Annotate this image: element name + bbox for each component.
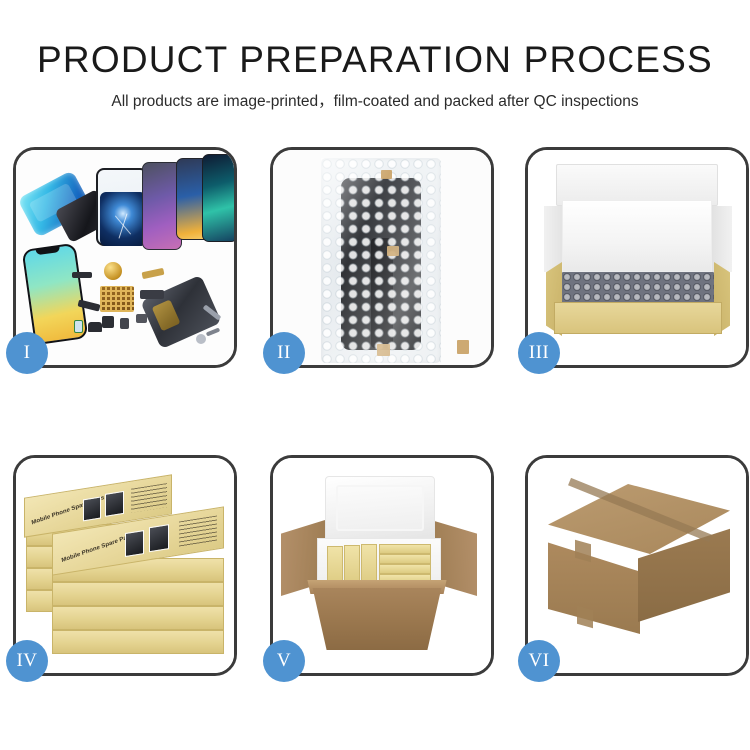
yellow-boxes-stack — [327, 542, 431, 586]
printed-screen-image — [83, 497, 101, 522]
illustration-open-kraft-box — [528, 150, 746, 365]
printed-screen-image — [149, 524, 169, 552]
step-image-2 — [273, 150, 491, 365]
illustration-bubble-wrapped-screen — [273, 150, 491, 365]
tape-piece — [457, 340, 469, 354]
bubble-wrap-bag — [321, 158, 441, 363]
process-step-card-1[interactable]: I — [13, 147, 237, 368]
gold-component — [104, 262, 122, 280]
yellow-box — [379, 544, 431, 554]
stacked-box — [52, 606, 224, 630]
page-title: PRODUCT PREPARATION PROCESS — [0, 38, 750, 82]
spare-part — [74, 320, 83, 333]
process-steps-grid: I II — [13, 147, 737, 678]
yellow-box — [361, 544, 377, 586]
carton-body — [307, 588, 447, 650]
box-side-flap-left — [544, 206, 564, 272]
stacked-box — [52, 582, 224, 606]
step-image-6 — [528, 458, 746, 673]
step-badge-1: I — [6, 332, 48, 374]
step-badge-4: IV — [6, 640, 48, 682]
step-badge-3: III — [518, 332, 560, 374]
spare-part — [102, 316, 114, 328]
yellow-box — [344, 545, 360, 586]
printed-screen-image — [125, 530, 144, 557]
teal-phone — [202, 154, 234, 242]
connector-chip — [100, 286, 134, 312]
spare-part — [72, 272, 92, 278]
yellow-box — [379, 564, 431, 574]
step-badge-2: II — [263, 332, 305, 374]
tape-piece — [387, 246, 399, 256]
foam-sheet — [562, 200, 712, 272]
spare-part — [120, 318, 129, 329]
process-step-card-6[interactable]: VI — [525, 455, 749, 676]
spare-part — [206, 328, 220, 337]
yellow-box — [379, 554, 431, 564]
spare-part — [88, 322, 102, 332]
cracked-screen — [100, 192, 146, 246]
step-badge-6: VI — [518, 640, 560, 682]
step-image-1 — [16, 150, 234, 365]
process-step-card-4[interactable]: Mobile Phone Spare Parts Mobile Phone Sp… — [13, 455, 237, 676]
illustration-stacked-boxes: Mobile Phone Spare Parts Mobile Phone Sp… — [16, 458, 234, 673]
bubble-texture — [321, 158, 441, 363]
tape-piece — [377, 344, 390, 356]
box-front-wall — [554, 302, 722, 334]
step-badge-5: V — [263, 640, 305, 682]
spare-part — [142, 268, 165, 279]
spare-part — [136, 314, 147, 323]
spare-part — [196, 334, 206, 344]
illustration-phone-parts — [16, 150, 234, 365]
carton-tape-lower — [577, 606, 593, 629]
process-step-card-3[interactable]: III — [525, 147, 749, 368]
tape-piece — [381, 170, 392, 179]
box-side-flap-right — [712, 206, 732, 272]
step-image-5 — [273, 458, 491, 673]
stacked-box — [52, 630, 224, 654]
illustration-open-carton — [273, 458, 491, 673]
page-subtitle: All products are image-printed，film-coat… — [0, 91, 750, 113]
box-print-label: Mobile Phone Spare Parts — [61, 533, 135, 564]
spare-part — [140, 290, 164, 299]
step-image-3 — [528, 150, 746, 365]
step-image-4: Mobile Phone Spare Parts Mobile Phone Sp… — [16, 458, 234, 673]
printed-spec-text — [179, 515, 217, 547]
process-step-card-2[interactable]: II — [270, 147, 494, 368]
page-header: PRODUCT PREPARATION PROCESS All products… — [0, 0, 750, 130]
process-step-card-5[interactable]: V — [270, 455, 494, 676]
printed-spec-text — [131, 483, 167, 513]
illustration-sealed-carton — [528, 458, 746, 673]
foam-lid — [325, 476, 435, 542]
printed-screen-image — [105, 491, 124, 517]
